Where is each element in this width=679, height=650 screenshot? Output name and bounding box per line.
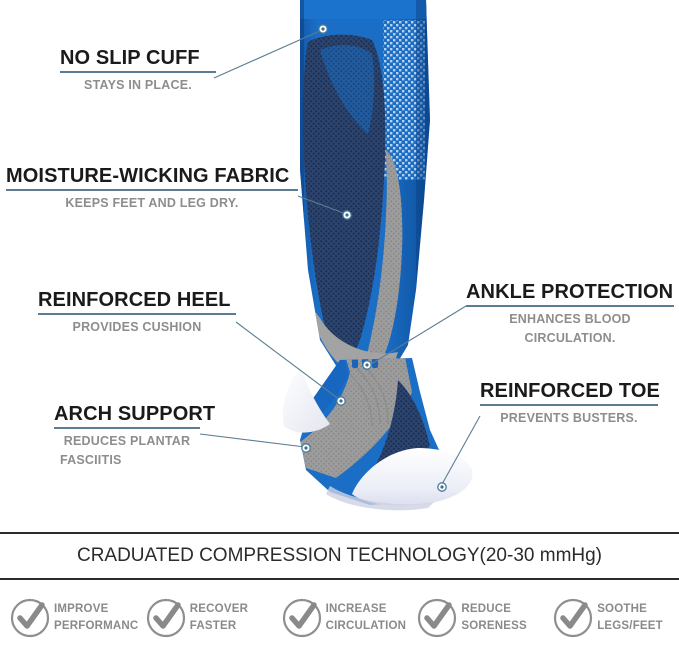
feature-label-line-1: IMPROVE <box>54 603 108 615</box>
feature-label-line-1: RECOVER <box>190 603 248 615</box>
check-circle-icon <box>551 596 595 640</box>
callout-title: NO SLIP CUFF <box>60 48 216 69</box>
callout-title: MOISTURE-WICKING FABRIC <box>6 166 298 187</box>
callout-underline <box>480 404 658 406</box>
feature-label: REDUCE SORENESS <box>461 601 527 636</box>
callout-title: REINFORCED TOE <box>480 381 658 402</box>
feature-recover-faster: RECOVER FASTER <box>136 596 272 640</box>
callout-subtitle-line-1: PREVENTS BUSTERS. <box>480 409 658 428</box>
feature-label: INCREASE CIRCULATION <box>326 601 407 636</box>
callout-reinforced-toe: REINFORCED TOE PREVENTS BUSTERS. <box>480 381 658 428</box>
callout-underline <box>60 71 216 73</box>
callout-no-slip-cuff: NO SLIP CUFF STAYS IN PLACE. <box>60 48 216 95</box>
check-circle-icon <box>144 596 188 640</box>
callout-subtitle-line-1: ENHANCES BLOOD <box>466 310 674 329</box>
callout-subtitle-line-2: FASCIITIS <box>54 451 200 470</box>
feature-label-line-1: SOOTHE <box>597 603 647 615</box>
callout-subtitle-line-1: KEEPS FEET AND LEG DRY. <box>6 194 298 213</box>
feature-label-line-2: FASTER <box>190 620 237 632</box>
feature-benefits-row: IMPROVE PERFORMANC RECOVER FASTER <box>0 586 679 650</box>
callout-ankle-protection: ANKLE PROTECTION ENHANCES BLOOD CIRCULAT… <box>466 282 674 349</box>
callout-title: ANKLE PROTECTION <box>466 282 674 303</box>
callout-subtitle-line-1: STAYS IN PLACE. <box>60 76 216 95</box>
feature-improve-performance: IMPROVE PERFORMANC <box>0 596 136 640</box>
callout-underline <box>38 313 236 315</box>
callout-arch-support: ARCH SUPPORT REDUCES PLANTAR FASCIITIS <box>54 404 200 471</box>
feature-increase-circulation: INCREASE CIRCULATION <box>272 596 408 640</box>
sock-leg <box>290 0 440 380</box>
check-circle-icon <box>415 596 459 640</box>
callout-subtitle-line-1: PROVIDES CUSHION <box>38 318 236 337</box>
banner-text: CRADUATED COMPRESSION TECHNOLOGY(20-30 m… <box>77 545 602 567</box>
callout-subtitle-line-1: REDUCES PLANTAR <box>54 432 200 451</box>
feature-label-line-2: PERFORMANC <box>54 620 138 632</box>
compression-technology-banner: CRADUATED COMPRESSION TECHNOLOGY(20-30 m… <box>0 534 679 580</box>
callout-underline <box>466 305 674 307</box>
feature-soothe-legs-feet: SOOTHE LEGS/FEET <box>543 596 679 640</box>
feature-label: SOOTHE LEGS/FEET <box>597 601 663 636</box>
callout-title: ARCH SUPPORT <box>54 404 200 425</box>
infographic-root: NO SLIP CUFF STAYS IN PLACE. MOISTURE-WI… <box>0 0 679 650</box>
callout-moisture-wicking-fabric: MOISTURE-WICKING FABRIC KEEPS FEET AND L… <box>6 166 298 213</box>
feature-label: IMPROVE PERFORMANC <box>54 601 138 636</box>
callout-underline <box>6 189 298 191</box>
feature-label-line-1: REDUCE <box>461 603 511 615</box>
feature-label-line-2: LEGS/FEET <box>597 620 663 632</box>
callout-reinforced-heel: REINFORCED HEEL PROVIDES CUSHION <box>38 290 236 337</box>
callout-title: REINFORCED HEEL <box>38 290 236 311</box>
feature-reduce-soreness: REDUCE SORENESS <box>407 596 543 640</box>
callout-subtitle-line-2: CIRCULATION. <box>466 329 674 348</box>
check-circle-icon <box>280 596 324 640</box>
feature-label: RECOVER FASTER <box>190 601 248 636</box>
feature-label-line-2: CIRCULATION <box>326 620 407 632</box>
callout-underline <box>54 427 200 429</box>
feature-label-line-1: INCREASE <box>326 603 387 615</box>
check-circle-icon <box>8 596 52 640</box>
feature-label-line-2: SORENESS <box>461 620 527 632</box>
